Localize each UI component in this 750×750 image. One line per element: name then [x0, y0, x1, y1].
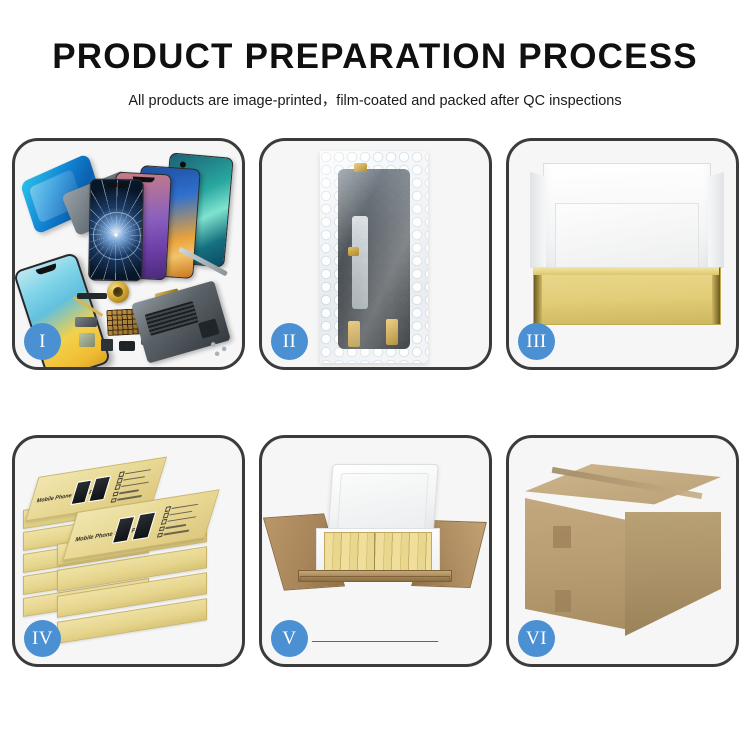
- page-subtitle: All products are image-printed，film-coat…: [0, 89, 750, 110]
- gold-connector-tab-icon: [386, 319, 398, 345]
- gold-connector-tab-icon: [354, 163, 367, 172]
- sealed-carton-icon: [525, 464, 721, 636]
- carton-side-face: [625, 512, 721, 636]
- page-title: PRODUCT PREPARATION PROCESS: [0, 38, 750, 77]
- spare-part-icon: [77, 293, 107, 299]
- styrofoam-lid-icon: [327, 464, 438, 538]
- step-badge-2: II: [271, 323, 308, 360]
- process-step-panel-5[interactable]: V: [259, 435, 492, 667]
- process-step-panel-4[interactable]: Mobile Phone Spare Parts: [12, 435, 245, 667]
- step-badge-6: VI: [518, 620, 555, 657]
- phone-cracked-screen-icon: [88, 179, 144, 282]
- screws-icon: [208, 339, 234, 357]
- bubble-wrap-sleeve-icon: [320, 151, 428, 363]
- kraft-mailer-box-icon: [525, 159, 723, 331]
- box-label-checklist: [157, 500, 208, 538]
- box-label-checklist: [110, 465, 161, 503]
- carton-front-face: [525, 498, 629, 630]
- process-step-panel-3[interactable]: III: [506, 138, 739, 370]
- gold-connector-tab-icon: [348, 247, 359, 256]
- spare-part-icon: [119, 341, 135, 351]
- carton-tape-patch: [555, 590, 571, 612]
- process-step-panel-2[interactable]: II: [259, 138, 492, 370]
- white-foam-sheet-icon: [555, 203, 699, 277]
- box-stack-icon: Mobile Phone Spare Parts: [21, 462, 233, 646]
- process-step-panel-6[interactable]: VI: [506, 435, 739, 667]
- gold-connector-tab-icon: [348, 321, 360, 347]
- spare-part-icon: [79, 333, 95, 347]
- page-header: PRODUCT PREPARATION PROCESS All products…: [0, 0, 750, 110]
- box-front-edge: [533, 267, 719, 275]
- open-carton-icon: [272, 458, 480, 644]
- step-badge-1: I: [24, 323, 61, 360]
- carton-tape-patch: [553, 526, 571, 548]
- spare-part-icon: [101, 339, 113, 351]
- yellow-product-boxes-icon: [324, 532, 432, 572]
- step-badge-3: III: [518, 323, 555, 360]
- process-step-panel-1[interactable]: I: [12, 138, 245, 370]
- step-badge-5: V: [271, 620, 308, 657]
- carton-body: [300, 576, 450, 642]
- wireless-charging-coil-icon: [107, 281, 129, 303]
- process-step-grid: I II III: [12, 138, 738, 667]
- spare-part-icon: [75, 317, 97, 327]
- step-badge-4: IV: [24, 620, 61, 657]
- box-base-icon: [533, 267, 721, 325]
